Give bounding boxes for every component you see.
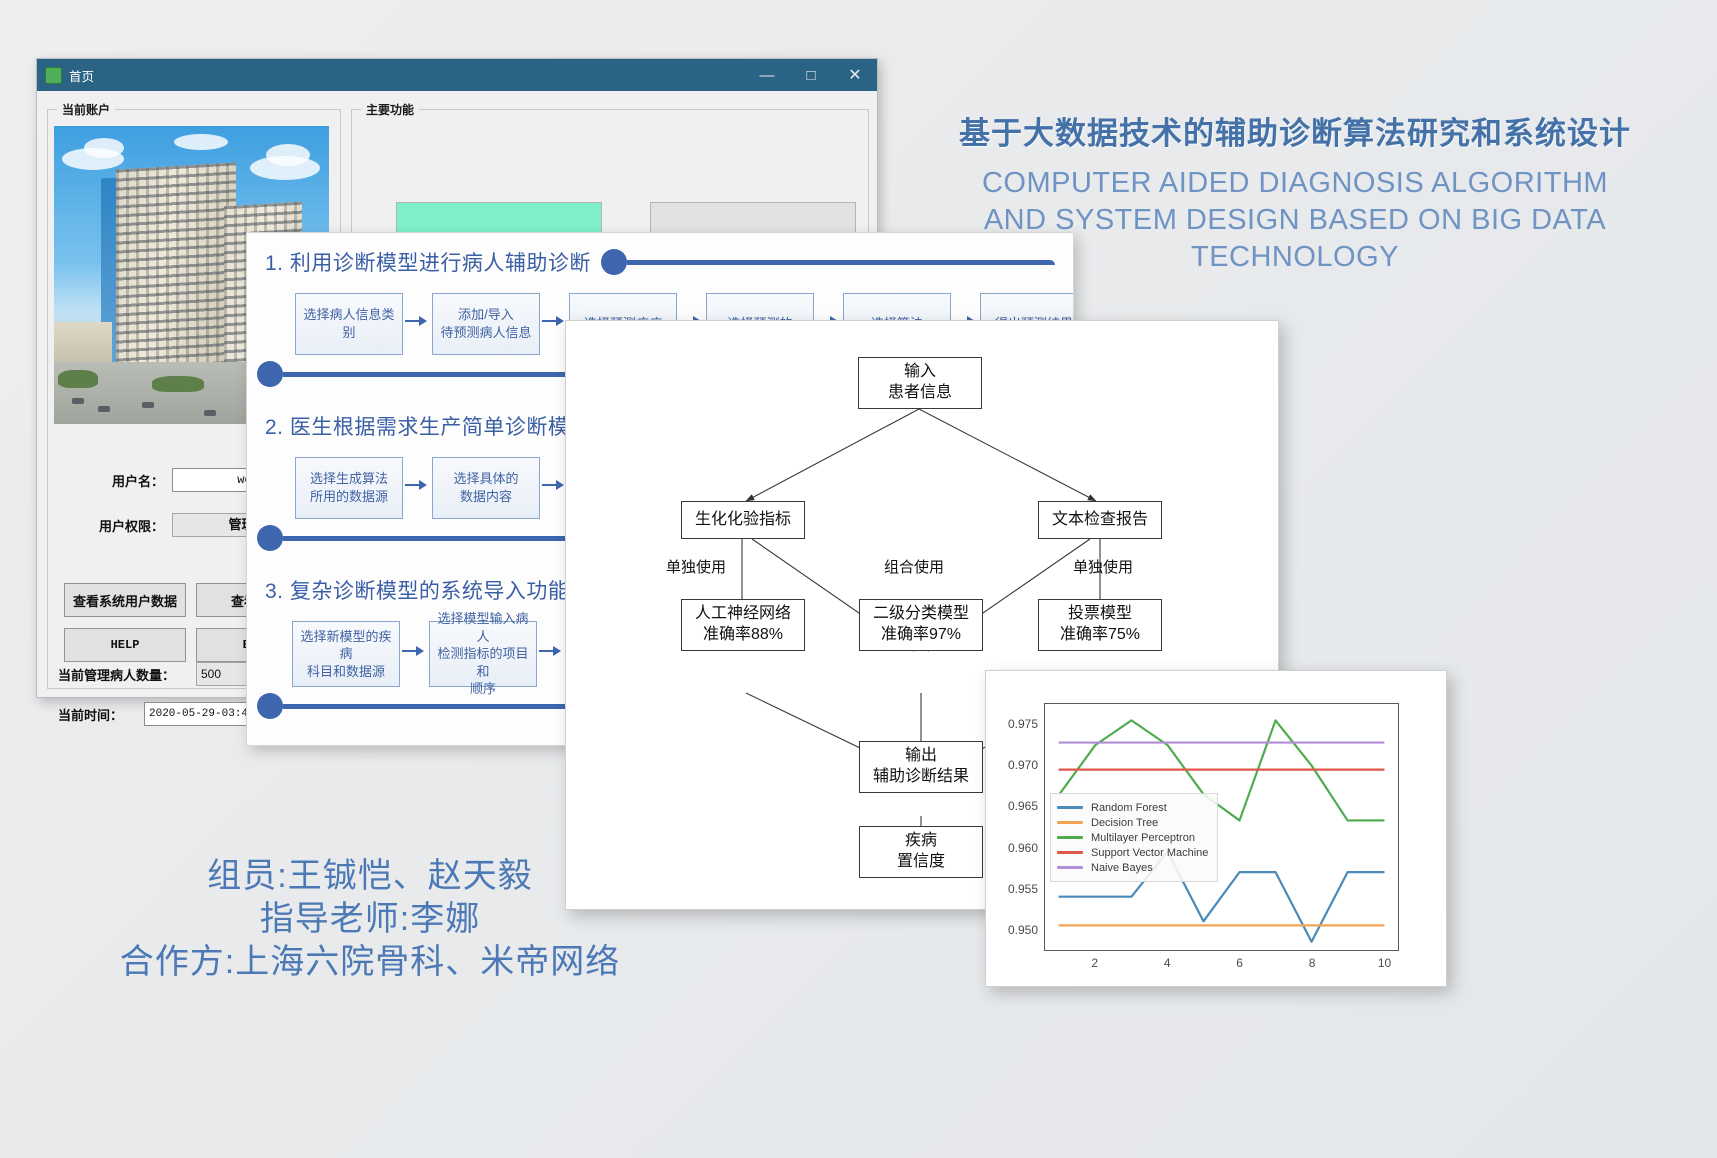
p3-arrow-1 [402,646,424,656]
process-section-3-title: 3. 复杂诊断模型的系统导入功能 [265,575,569,605]
p2-step-2[interactable]: 选择具体的数据内容 [432,457,540,519]
flow-label-middle: 组合使用 [884,556,944,577]
p1-arrow-1 [405,316,427,326]
divider-3-pin-icon [257,693,283,719]
help-button[interactable]: HELP [64,628,186,662]
model-accuracy-chart-panel: 0.9500.9550.9600.9650.9700.975 246810 Ra… [985,670,1447,987]
chart-legend-label-3: Support Vector Machine [1091,847,1208,859]
page-subtitle: COMPUTER AIDED DIAGNOSIS ALGORITHM AND S… [880,165,1710,275]
credits-partners: 合作方:上海六院骨科、米帝网络 [60,941,680,984]
chart-legend-swatch-2 [1057,836,1083,839]
chart-legend-label-2: Multilayer Perceptron [1091,832,1195,844]
p2-arrow-1 [405,480,427,490]
user-role-label: 用户权限： [60,516,164,535]
flow-node-input: 输入患者信息 [858,357,982,409]
view-system-users-button[interactable]: 查看系统用户数据 [64,583,186,617]
chart-xtick-2: 6 [1236,956,1243,970]
flow-node-two-stage-model: 二级分类模型准确率97% [859,599,983,651]
subtitle-line-2: AND SYSTEM DESIGN BASED ON BIG DATA [880,202,1710,239]
flow-node-output: 输出辅助诊断结果 [859,741,983,793]
p1-step-2[interactable]: 添加/导入待预测病人信息 [432,293,540,355]
patient-count-label: 当前管理病人数量： [58,665,196,684]
chart-xtick-1: 4 [1164,956,1171,970]
chart-legend-label-1: Decision Tree [1091,817,1158,829]
chart-ytick-4: 0.970 [1008,758,1038,772]
credits-block: 组员:王铖恺、赵天毅 指导老师:李娜 合作方:上海六院骨科、米帝网络 [60,855,680,985]
credits-members: 组员:王铖恺、赵天毅 [60,855,680,898]
flow-node-voting-model: 投票模型准确率75% [1038,599,1162,651]
chart-ytick-2: 0.960 [1008,841,1038,855]
flow-label-right: 单独使用 [1073,556,1133,577]
divider-2-pin-icon [257,525,283,551]
title-block: 基于大数据技术的辅助诊断算法研究和系统设计 COMPUTER AIDED DIA… [880,108,1710,275]
chart-legend-swatch-1 [1057,821,1083,824]
maximize-button[interactable]: □ [789,59,833,91]
current-time-label: 当前时间： [58,705,144,724]
minimize-button[interactable]: — [745,59,789,91]
p3-arrow-2 [539,646,561,656]
chart-ytick-3: 0.965 [1008,799,1038,813]
app-icon [45,67,62,84]
chart-xtick-3: 8 [1309,956,1316,970]
subtitle-line-1: COMPUTER AIDED DIAGNOSIS ALGORITHM [880,165,1710,202]
flow-node-confidence: 疾病置信度 [859,826,983,878]
p1-step-1[interactable]: 选择病人信息类别 [295,293,403,355]
section-1-pin-icon [601,249,627,275]
group-label-functions: 主要功能 [361,101,419,118]
p3-step-1[interactable]: 选择新模型的疾病科目和数据源 [292,621,400,687]
divider-1-pin-icon [257,361,283,387]
p1-arrow-2 [542,316,564,326]
chart-xtick-4: 10 [1378,956,1391,970]
group-label-account: 当前账户 [57,101,115,118]
chart-legend-label-0: Random Forest [1091,802,1167,814]
chart-legend-item-4: Naive Bayes [1057,860,1208,875]
close-button[interactable]: ✕ [833,59,877,91]
flow-node-lab-indicators: 生化化验指标 [681,501,805,539]
p2-step-1[interactable]: 选择生成算法所用的数据源 [295,457,403,519]
chart-legend-swatch-4 [1057,866,1083,869]
chart-legend-item-0: Random Forest [1057,800,1208,815]
chart-ytick-5: 0.975 [1008,717,1038,731]
process-section-2-title: 2. 医生根据需求生产简单诊断模型 [265,411,591,441]
flow-label-left: 单独使用 [666,556,726,577]
page-title: 基于大数据技术的辅助诊断算法研究和系统设计 [880,108,1710,153]
chart-legend: Random ForestDecision TreeMultilayer Per… [1050,793,1218,882]
chart-ytick-1: 0.955 [1008,882,1038,896]
p3-step-2[interactable]: 选择模型输入病人检测指标的项目和顺序 [429,621,537,687]
p2-arrow-2 [542,480,564,490]
window-title: 首页 [69,66,745,85]
chart-legend-swatch-0 [1057,806,1083,809]
chart-legend-item-2: Multilayer Perceptron [1057,830,1208,845]
chart-xtick-0: 2 [1091,956,1098,970]
subtitle-line-3: TECHNOLOGY [880,239,1710,276]
chart-legend-item-3: Support Vector Machine [1057,845,1208,860]
chart-legend-item-1: Decision Tree [1057,815,1208,830]
process-section-1-title: 1. 利用诊断模型进行病人辅助诊断 [265,247,591,277]
flow-node-ann-model: 人工神经网络准确率88% [681,599,805,651]
window-titlebar[interactable]: 首页 — □ ✕ [37,59,877,91]
credits-advisor: 指导老师:李娜 [60,898,680,941]
chart-legend-swatch-3 [1057,851,1083,854]
username-label: 用户名： [60,471,164,490]
chart-legend-label-4: Naive Bayes [1091,862,1153,874]
chart-ytick-0: 0.950 [1008,923,1038,937]
flow-node-text-report: 文本检查报告 [1038,501,1162,539]
chart-plot-area: 0.9500.9550.9600.9650.9700.975 246810 Ra… [1044,703,1399,951]
